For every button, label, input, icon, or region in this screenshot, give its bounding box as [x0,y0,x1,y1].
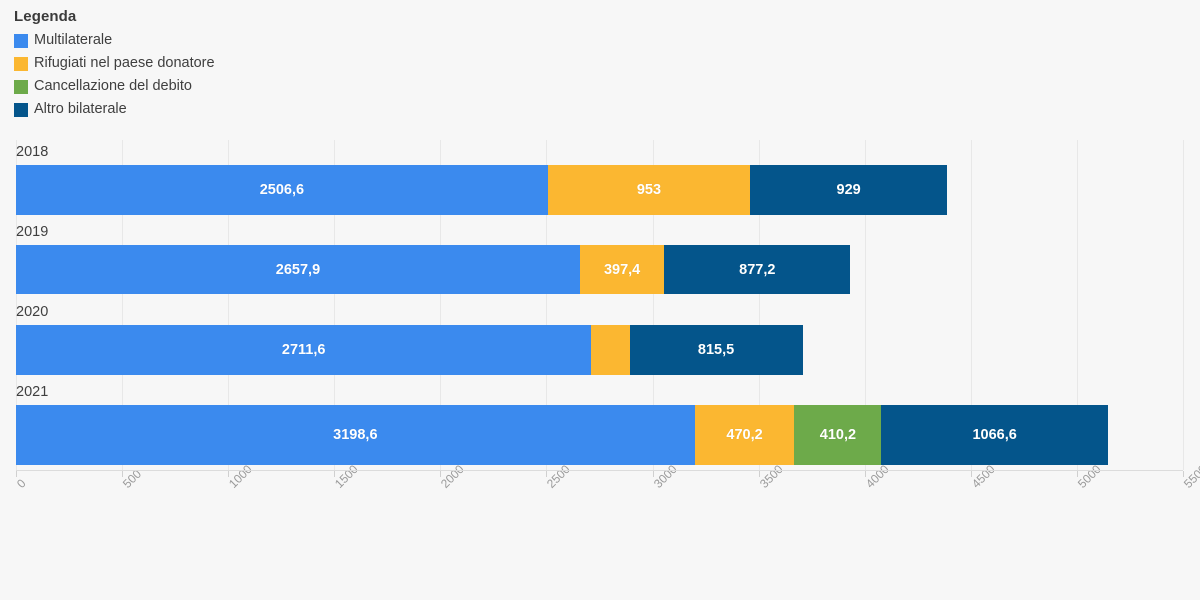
legend-items: MultilateraleRifugiati nel paese donator… [14,29,215,121]
x-axis-line [16,470,1183,471]
x-axis-tick-label: 1000 [226,462,255,491]
legend-swatch-icon [14,80,28,94]
legend-swatch-icon [14,57,28,71]
legend-item-label: Cancellazione del debito [34,78,192,95]
chart-legend: Legenda MultilateraleRifugiati nel paese… [14,8,215,121]
x-axis-tick-label: 2500 [544,462,573,491]
legend-item[interactable]: Multilaterale [14,29,215,52]
x-axis-tick [971,471,972,477]
x-axis-tick-label: 4500 [969,462,998,491]
x-axis-tick [16,471,17,477]
x-axis-tick [759,471,760,477]
legend-item-label: Multilaterale [34,32,112,49]
x-axis-tick [865,471,866,477]
legend-swatch-icon [14,103,28,117]
legend-item-label: Altro bilaterale [34,101,127,118]
x-axis-tick [653,471,654,477]
x-axis-tick-label: 4000 [863,462,892,491]
legend-item-label: Rifugiati nel paese donatore [34,55,215,72]
legend-item[interactable]: Altro bilaterale [14,98,215,121]
x-axis-tick-label: 5000 [1075,462,1104,491]
legend-item[interactable]: Cancellazione del debito [14,75,215,98]
x-axis-tick-label: 5500 [1181,462,1200,491]
x-axis-tick [1077,471,1078,477]
x-axis-tick-label: 2000 [438,462,467,491]
x-axis-tick-label: 1500 [332,462,361,491]
x-axis-tick-label: 3000 [651,462,680,491]
legend-title: Legenda [14,8,215,26]
x-axis-tick [1183,471,1184,477]
legend-swatch-icon [14,34,28,48]
stacked-bar-chart: 20182506,695392920192657,9397,4877,22020… [0,0,1200,600]
x-axis-tick-label: 3500 [757,462,786,491]
legend-item[interactable]: Rifugiati nel paese donatore [14,52,215,75]
x-axis-tick-label: 0 [14,476,29,491]
